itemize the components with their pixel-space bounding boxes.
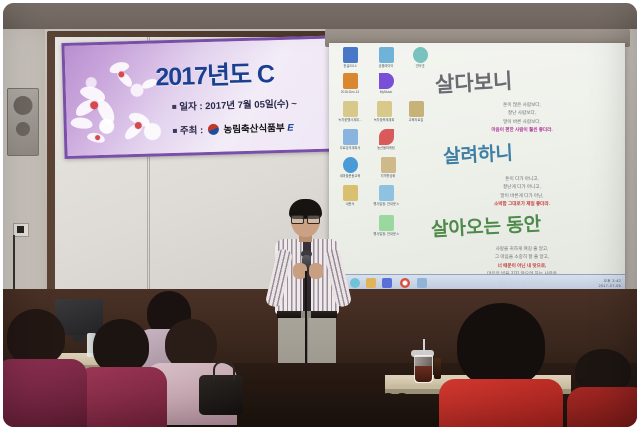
document-icon — [379, 215, 394, 231]
browser-icon[interactable] — [350, 278, 360, 288]
document-icon — [343, 101, 358, 117]
desktop-icon[interactable]: 녹차꽃행사계획... — [335, 101, 365, 122]
attendee-right-red — [431, 303, 567, 430]
desktop-icon[interactable]: 지역활성화 — [373, 157, 403, 178]
attendee-left-mid — [77, 319, 167, 430]
presentation-slide: 살다보니 돈이 많은 사람보다, 잘난 사람보다, 말이 바른 사람보다, 마음… — [425, 49, 621, 287]
desktop-icon[interactable]: 행사일정- 안내문.h — [371, 185, 401, 206]
lens-right — [395, 393, 409, 404]
attendee-hair — [7, 309, 65, 365]
bullet-icon — [172, 105, 176, 109]
eyeglasses-icon — [291, 215, 320, 222]
taegeuk-icon — [208, 124, 219, 135]
attendee-left-front — [3, 309, 83, 430]
system-tray[interactable]: 오후 3:42 2017-07-05 — [599, 279, 621, 288]
presenter-right-hand — [309, 263, 323, 279]
slide-paragraph-2: 돈이 다가 아니고, 잘난게 다가 아니고, 말이 바른게 다가 아닌, 소박함… — [433, 175, 611, 209]
desktop-icon[interactable]: 새마을운동교육 — [335, 157, 365, 178]
document-icon — [409, 101, 424, 117]
attendee-body — [439, 379, 563, 430]
wall-pillar — [3, 29, 45, 329]
attendee-hair — [165, 319, 217, 369]
attendee-body — [567, 387, 640, 430]
desktop-icon[interactable]: 행사일정- 안내문.h — [371, 215, 401, 236]
document-icon — [379, 185, 394, 201]
handbag-strap — [213, 361, 235, 381]
desktop-icon[interactable]: 녹차꽃축제계획 — [369, 101, 399, 122]
hancom-icon — [343, 47, 358, 63]
slide-paragraph-1: 돈이 많은 사람보다, 잘난 사람보다, 말이 바른 사람보다, 마음이 편한 … — [433, 101, 611, 135]
event-banner: 2017년도 C 일자 : 2017년 7월 05일(수) ~ 주최 : 농림축… — [61, 35, 355, 159]
media-player-icon[interactable] — [382, 278, 392, 288]
attendee-body — [0, 359, 87, 430]
desktop-icon[interactable]: 곰플레이어 — [371, 47, 401, 68]
photograph: 2017년도 C 일자 : 2017년 7월 05일(수) ~ 주최 : 농림축… — [0, 0, 640, 430]
app-icon[interactable] — [417, 278, 427, 288]
folder-icon[interactable] — [366, 278, 376, 288]
chrome-icon[interactable] — [400, 278, 410, 288]
attendee-hair — [457, 303, 545, 387]
eyeglasses-on-desk — [381, 393, 409, 403]
wall-cable — [13, 235, 15, 295]
document-icon — [381, 157, 396, 173]
slide-heading-3: 살아오는 동안 — [430, 209, 541, 242]
wall-speaker — [7, 88, 39, 156]
lens-left — [381, 393, 395, 404]
pinwheel-icon — [379, 129, 394, 145]
slide-heading-2: 살려하니 — [442, 138, 513, 169]
desktop-icon[interactable]: 농산물마케팅 — [371, 129, 401, 150]
desktop-icon[interactable]: MyMusic — [371, 73, 401, 94]
document-icon — [377, 101, 392, 117]
attendee-body — [77, 367, 167, 430]
attendee-far-right — [569, 349, 640, 430]
light-switch[interactable] — [13, 223, 29, 237]
media-icon — [379, 47, 394, 63]
cd-icon — [343, 157, 358, 173]
banner-title: 2017년도 C — [155, 54, 275, 93]
photo-icon — [343, 73, 358, 89]
handbag — [199, 375, 243, 415]
document-icon — [343, 129, 358, 145]
desktop-icon[interactable]: 한글2014 — [335, 47, 365, 68]
bullet-icon — [173, 129, 177, 133]
desktop-icon[interactable]: 2018-Dec-13 — [335, 73, 365, 94]
attendee-hair — [93, 319, 149, 373]
projection-screen: 한글2014 곰플레이어 인터넷 2018-Dec-13 MyMusic 녹차꽃… — [329, 43, 625, 291]
mymusic-icon — [379, 73, 394, 89]
desktop-icon[interactable]: 무료강의계획서 — [335, 129, 365, 150]
slide-heading-1: 살다보니 — [434, 65, 513, 99]
straw — [423, 339, 425, 353]
